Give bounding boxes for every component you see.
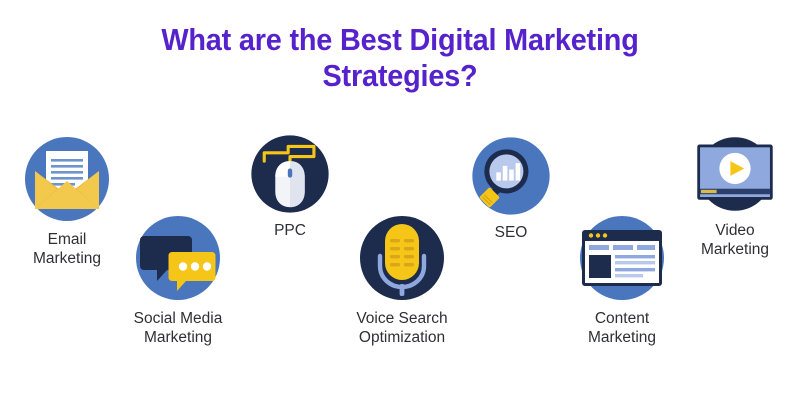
- computer-mouse-icon: [244, 128, 336, 220]
- strategy-item-video[interactable]: Video Marketing: [645, 128, 800, 259]
- strategy-label-voice-search: Voice Search Optimization: [312, 310, 492, 347]
- strategy-label-video: Video Marketing: [645, 222, 800, 259]
- strategy-label-content: Content Marketing: [532, 310, 712, 347]
- strategy-label-social-media: Social Media Marketing: [88, 310, 268, 347]
- infographic-canvas: What are the Best Digital Marketing Stra…: [0, 0, 800, 415]
- video-player-icon: [689, 128, 781, 220]
- page-title: What are the Best Digital Marketing Stra…: [28, 22, 772, 94]
